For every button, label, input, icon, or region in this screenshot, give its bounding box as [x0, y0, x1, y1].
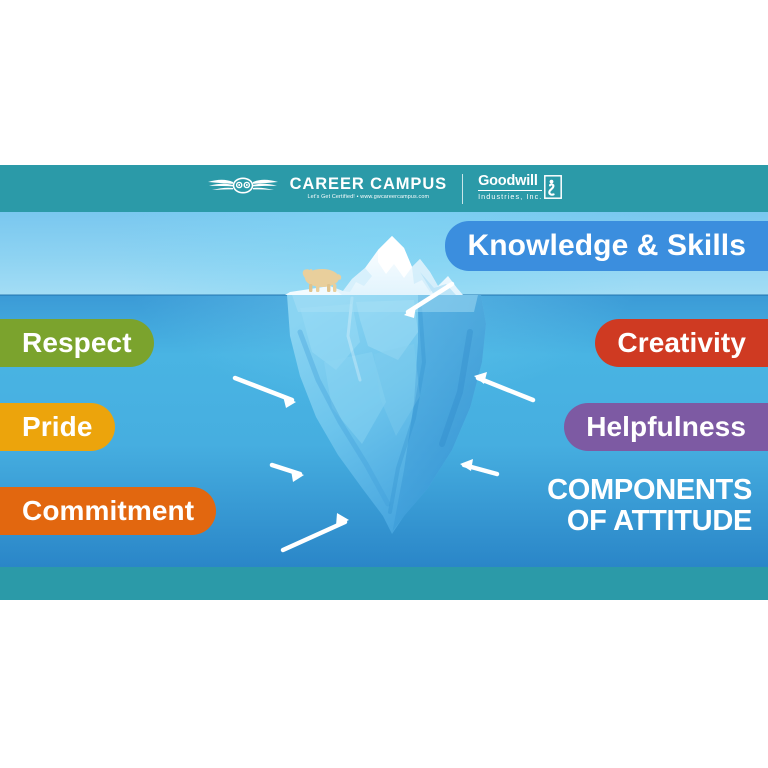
- career-campus-tagline: Let's Get Certified! • www.gwcareercampu…: [307, 195, 429, 200]
- goodwill-title: Goodwill: [478, 174, 542, 191]
- label-pride[interactable]: Pride: [0, 403, 115, 451]
- label-creativity-text: Creativity: [617, 327, 746, 359]
- page-canvas: Knowledge & Skills Respect Creativity Pr…: [0, 0, 768, 768]
- label-respect-text: Respect: [22, 327, 132, 359]
- label-helpfulness-text: Helpfulness: [586, 411, 746, 443]
- label-knowledge-and-skills[interactable]: Knowledge & Skills: [445, 221, 768, 271]
- footer-band: [0, 567, 768, 600]
- goodwill-logo: Goodwill Industries, Inc.: [478, 174, 562, 204]
- goodwill-smiling-g-icon: [544, 175, 562, 204]
- label-knowledge-and-skills-text: Knowledge & Skills: [467, 229, 746, 263]
- label-pride-text: Pride: [22, 411, 93, 443]
- career-campus-wordmark: CAREER CAMPUS Let's Get Certified! • www…: [290, 176, 447, 200]
- components-of-attitude-caption: COMPONENTS OF ATTITUDE: [547, 475, 752, 536]
- iceberg-infographic: Knowledge & Skills Respect Creativity Pr…: [0, 165, 768, 600]
- logo-divider: [462, 174, 463, 204]
- label-commitment-text: Commitment: [22, 495, 194, 527]
- career-campus-title: CAREER CAMPUS: [290, 176, 447, 193]
- wings-owl-icon: [206, 174, 280, 203]
- waterline: [0, 294, 768, 296]
- caption-line-1: COMPONENTS: [547, 475, 752, 506]
- caption-line-2: OF ATTITUDE: [547, 506, 752, 537]
- label-helpfulness[interactable]: Helpfulness: [564, 403, 768, 451]
- logo-lockup: CAREER CAMPUS Let's Get Certified! • www…: [0, 165, 768, 212]
- label-commitment[interactable]: Commitment: [0, 487, 216, 535]
- goodwill-wordmark: Goodwill Industries, Inc.: [478, 174, 542, 200]
- label-creativity[interactable]: Creativity: [595, 319, 768, 367]
- label-respect[interactable]: Respect: [0, 319, 154, 367]
- goodwill-subtitle: Industries, Inc.: [478, 193, 542, 200]
